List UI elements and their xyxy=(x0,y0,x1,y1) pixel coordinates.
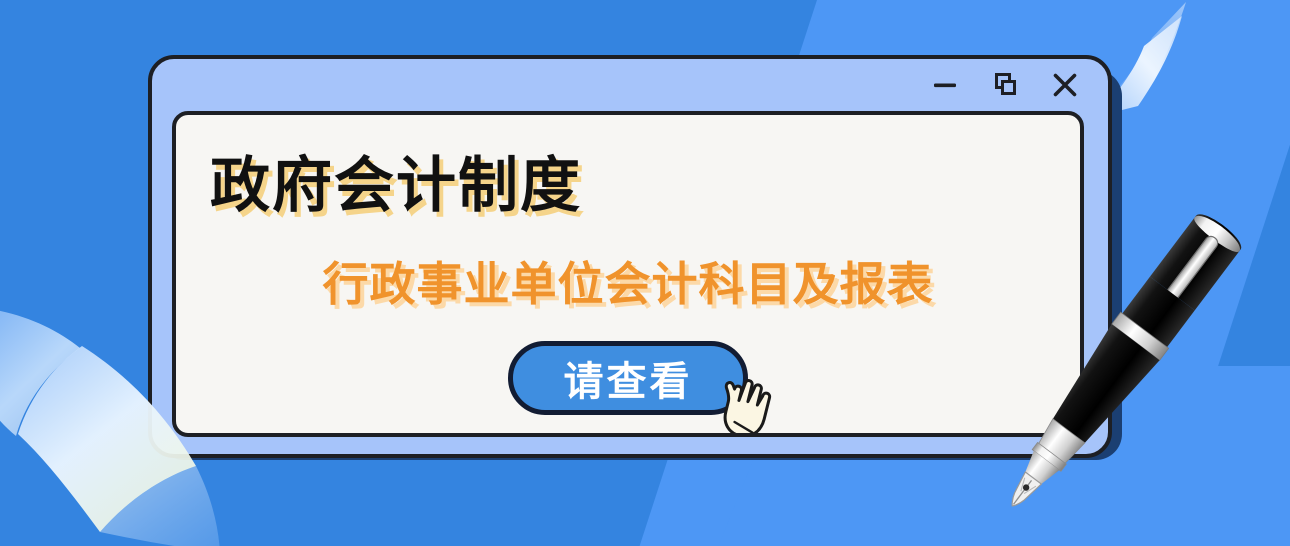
close-button[interactable] xyxy=(1048,68,1082,102)
minimize-icon xyxy=(930,70,960,100)
page-subtitle: 行政事业单位会计科目及报表 xyxy=(176,248,1080,314)
hand-cursor-icon xyxy=(711,364,795,437)
cta-container: 请查看 xyxy=(176,341,1080,415)
restore-button[interactable] xyxy=(988,68,1022,102)
app-window: 政府会计制度 行政事业单位会计科目及报表 请查看 xyxy=(148,55,1112,458)
view-button[interactable]: 请查看 xyxy=(508,341,748,415)
restore-icon xyxy=(990,70,1020,100)
content-panel: 政府会计制度 行政事业单位会计科目及报表 请查看 xyxy=(172,111,1084,437)
close-icon xyxy=(1050,70,1080,100)
page-title: 政府会计制度 xyxy=(210,137,582,224)
minimize-button[interactable] xyxy=(928,68,962,102)
view-button-label: 请查看 xyxy=(564,349,693,407)
poster-canvas: 政府会计制度 行政事业单位会计科目及报表 请查看 xyxy=(0,0,1290,546)
window-titlebar xyxy=(152,59,1108,111)
